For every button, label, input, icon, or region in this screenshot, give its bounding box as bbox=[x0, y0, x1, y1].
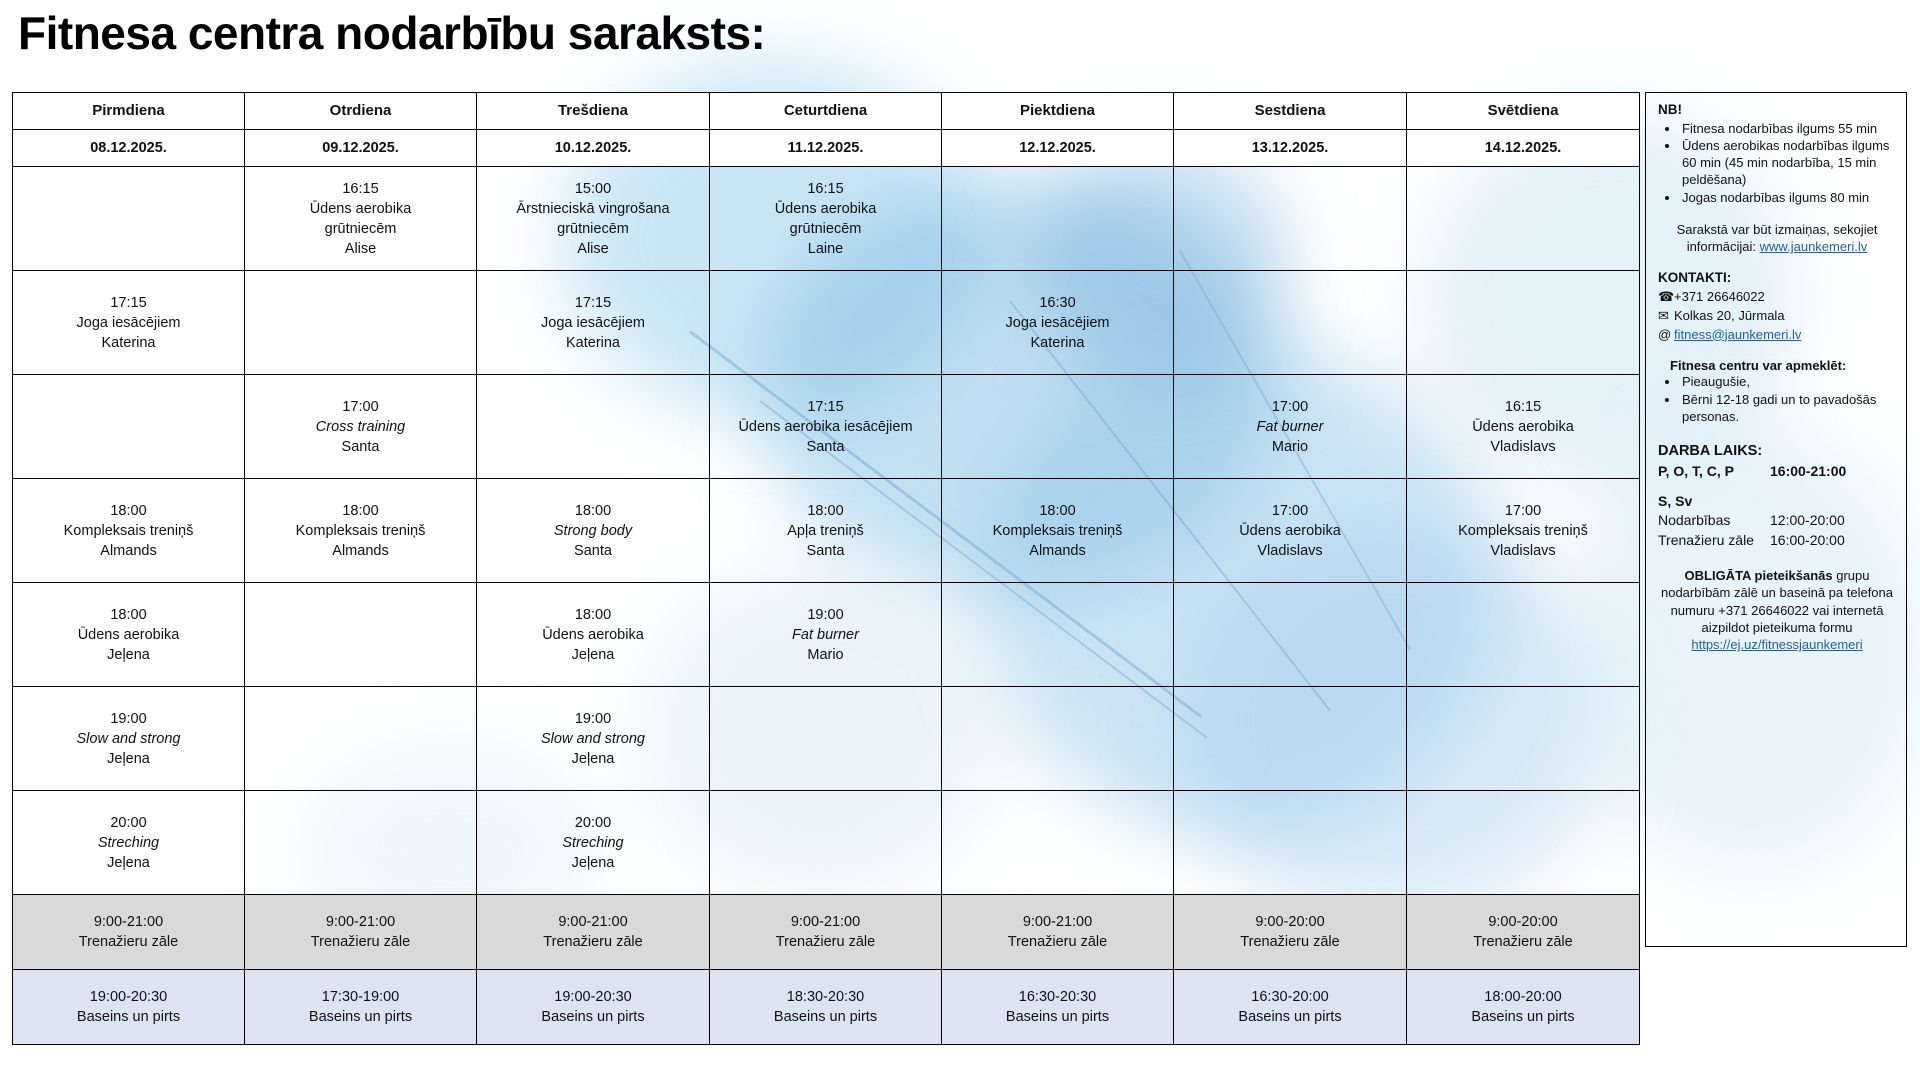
schedule-cell: 17:00Cross trainingSanta bbox=[245, 375, 477, 479]
cell-line: 18:00 bbox=[481, 501, 705, 521]
schedule-cell bbox=[942, 167, 1174, 271]
schedule-cell: 17:15Joga iesācējiemKaterina bbox=[13, 271, 245, 375]
cell-line: Baseins un pirts bbox=[249, 1007, 472, 1027]
cell-line: 16:30 bbox=[946, 293, 1169, 313]
cell-line: 17:00 bbox=[1411, 501, 1635, 521]
cell-line: Almands bbox=[946, 541, 1169, 561]
cell-line: Vladislavs bbox=[1411, 541, 1635, 561]
cell-line: 17:00 bbox=[1178, 501, 1402, 521]
cell-line: Trenažieru zāle bbox=[1178, 932, 1402, 952]
table-row: 16:15Ūdens aerobikagrūtniecēmAlise15:00Ā… bbox=[13, 167, 1640, 271]
cell-line: Katerina bbox=[481, 333, 705, 353]
weekend-classes-value: 12:00-20:00 bbox=[1770, 511, 1845, 529]
cell-line: Trenažieru zāle bbox=[249, 932, 472, 952]
cell-line: 19:00 bbox=[17, 709, 240, 729]
cell-line: Almands bbox=[17, 541, 240, 561]
envelope-icon: ✉ bbox=[1658, 308, 1674, 325]
cell-line: Katerina bbox=[946, 333, 1169, 353]
schedule-cell: 16:30-20:00Baseins un pirts bbox=[1174, 970, 1407, 1045]
cell-line: 9:00-21:00 bbox=[714, 912, 937, 932]
contact-address-row: ✉Kolkas 20, Jūrmala bbox=[1658, 308, 1896, 325]
cell-line: 20:00 bbox=[481, 813, 705, 833]
cell-line: Ūdens aerobika iesācējiem bbox=[714, 417, 937, 437]
cell-line: 17:15 bbox=[481, 293, 705, 313]
schedule-cell bbox=[1174, 167, 1407, 271]
cell-line: 17:30-19:00 bbox=[249, 987, 472, 1007]
schedule-cell: 18:00Strong bodySanta bbox=[477, 479, 710, 583]
schedule-cell: 20:00StrechingJeļena bbox=[477, 791, 710, 895]
at-icon: @ bbox=[1658, 327, 1674, 344]
schedule-cell bbox=[942, 687, 1174, 791]
schedule-cell bbox=[710, 791, 942, 895]
schedule-cell: 19:00Fat burnerMario bbox=[710, 583, 942, 687]
weekend-classes-label: Nodarbības bbox=[1658, 511, 1770, 529]
schedule-changes-note: Sarakstā var būt izmaiņas, sekojiet info… bbox=[1658, 221, 1896, 255]
visitors-title: Fitnesa centru var apmeklēt: bbox=[1670, 358, 1896, 375]
cell-line: Kompleksais treniņš bbox=[1411, 521, 1635, 541]
cell-line: Trenažieru zāle bbox=[17, 932, 240, 952]
cell-line: Ūdens aerobika bbox=[714, 199, 937, 219]
jaunkemeri-website-link[interactable]: www.jaunkemeri.lv bbox=[1760, 239, 1868, 254]
cell-line: Kompleksais treniņš bbox=[17, 521, 240, 541]
cell-line: Slow and strong bbox=[17, 729, 240, 749]
cell-line: Ūdens aerobika bbox=[1411, 417, 1635, 437]
schedule-cell: 18:30-20:30Baseins un pirts bbox=[710, 970, 942, 1045]
day-header-0: Pirmdiena bbox=[13, 93, 245, 130]
schedule-cell: 16:30Joga iesācējiemKaterina bbox=[942, 271, 1174, 375]
schedule-cell bbox=[1407, 687, 1640, 791]
schedule-cell: 18:00Apļa treniņšSanta bbox=[710, 479, 942, 583]
cell-line: Ūdens aerobika bbox=[249, 199, 472, 219]
cell-line: 16:15 bbox=[1411, 397, 1635, 417]
cell-line: 9:00-21:00 bbox=[946, 912, 1169, 932]
schedule-cell: 17:00Kompleksais treniņšVladislavs bbox=[1407, 479, 1640, 583]
cell-line: 18:00 bbox=[946, 501, 1169, 521]
table-row: 19:00Slow and strongJeļena19:00Slow and … bbox=[13, 687, 1640, 791]
weekend-gym-row: Trenažieru zāle 16:00-20:00 bbox=[1658, 531, 1896, 549]
schedule-cell: 15:00Ārstnieciskā vingrošanagrūtniecēmAl… bbox=[477, 167, 710, 271]
schedule-cell bbox=[942, 791, 1174, 895]
day-date-4: 12.12.2025. bbox=[942, 130, 1174, 167]
day-date-1: 09.12.2025. bbox=[245, 130, 477, 167]
cell-line: 17:00 bbox=[1178, 397, 1402, 417]
schedule-cell: 17:15Joga iesācējiemKaterina bbox=[477, 271, 710, 375]
schedule-cell: 19:00-20:30Baseins un pirts bbox=[13, 970, 245, 1045]
day-date-6: 14.12.2025. bbox=[1407, 130, 1640, 167]
day-header-1: Otrdiena bbox=[245, 93, 477, 130]
schedule-cell bbox=[1174, 791, 1407, 895]
day-date-3: 11.12.2025. bbox=[710, 130, 942, 167]
schedule-cell bbox=[710, 687, 942, 791]
cell-line: Vladislavs bbox=[1411, 437, 1635, 457]
cell-line: 16:15 bbox=[249, 179, 472, 199]
cell-line: Trenažieru zāle bbox=[714, 932, 937, 952]
cell-line: Joga iesācējiem bbox=[481, 313, 705, 333]
schedule-cell bbox=[942, 583, 1174, 687]
cell-line: Baseins un pirts bbox=[714, 1007, 937, 1027]
cell-line: Kompleksais treniņš bbox=[249, 521, 472, 541]
weekend-days-label: S, Sv bbox=[1658, 492, 1896, 510]
cell-line: 18:00 bbox=[714, 501, 937, 521]
cell-line: 9:00-21:00 bbox=[249, 912, 472, 932]
cell-line: Alise bbox=[249, 239, 472, 259]
schedule-cell bbox=[1174, 687, 1407, 791]
cell-line: Vladislavs bbox=[1178, 541, 1402, 561]
schedule-cell bbox=[710, 271, 942, 375]
contacts-title: KONTAKTI: bbox=[1658, 269, 1896, 287]
cell-line: 9:00-21:00 bbox=[17, 912, 240, 932]
cell-line: Santa bbox=[249, 437, 472, 457]
schedule-cell: 17:00Fat burnerMario bbox=[1174, 375, 1407, 479]
schedule-cell bbox=[13, 375, 245, 479]
cell-line: 15:00 bbox=[481, 179, 705, 199]
schedule-cell bbox=[245, 271, 477, 375]
schedule-cell bbox=[477, 375, 710, 479]
cell-line: 18:30-20:30 bbox=[714, 987, 937, 1007]
cell-line: Ūdens aerobika bbox=[17, 625, 240, 645]
contact-phone: +371 26646022 bbox=[1674, 289, 1765, 304]
cell-line: 16:30-20:00 bbox=[1178, 987, 1402, 1007]
schedule-table: Pirmdiena Otrdiena Trešdiena Ceturtdiena… bbox=[12, 92, 1640, 1045]
visitors-list: Pieaugušie,Bērni 12-18 gadi un to pavado… bbox=[1658, 374, 1896, 426]
schedule-cell: 19:00Slow and strongJeļena bbox=[13, 687, 245, 791]
schedule-cell: 9:00-21:00Trenažieru zāle bbox=[13, 895, 245, 970]
contact-email-row: @fitness@jaunkemeri.lv bbox=[1658, 327, 1896, 344]
cell-line: Santa bbox=[714, 437, 937, 457]
schedule-cell bbox=[1174, 583, 1407, 687]
cell-line: 17:15 bbox=[17, 293, 240, 313]
cell-line: Jeļena bbox=[481, 749, 705, 769]
cell-line: Cross training bbox=[249, 417, 472, 437]
schedule-cell bbox=[245, 583, 477, 687]
cell-line: 9:00-21:00 bbox=[481, 912, 705, 932]
schedule-cell: 16:30-20:30Baseins un pirts bbox=[942, 970, 1174, 1045]
schedule-cell: 18:00-20:00Baseins un pirts bbox=[1407, 970, 1640, 1045]
contact-phone-row: ☎+371 26646022 bbox=[1658, 289, 1896, 306]
contact-address: Kolkas 20, Jūrmala bbox=[1674, 308, 1785, 323]
schedule-cell: 9:00-21:00Trenažieru zāle bbox=[245, 895, 477, 970]
schedule-cell bbox=[942, 375, 1174, 479]
schedule-cell: 9:00-21:00Trenažieru zāle bbox=[710, 895, 942, 970]
schedule-cell: 16:15Ūdens aerobikagrūtniecēmLaine bbox=[710, 167, 942, 271]
cell-line: Baseins un pirts bbox=[1178, 1007, 1402, 1027]
cell-line: Almands bbox=[249, 541, 472, 561]
day-date-5: 13.12.2025. bbox=[1174, 130, 1407, 167]
cell-line: Trenažieru zāle bbox=[946, 932, 1169, 952]
weekend-classes-row: Nodarbības 12:00-20:00 bbox=[1658, 511, 1896, 529]
cell-line: Kompleksais treniņš bbox=[946, 521, 1169, 541]
contact-email-link[interactable]: fitness@jaunkemeri.lv bbox=[1674, 327, 1801, 342]
cell-line: 18:00 bbox=[481, 605, 705, 625]
weekday-hours-value: 16:00-21:00 bbox=[1770, 462, 1846, 480]
day-date-2: 10.12.2025. bbox=[477, 130, 710, 167]
registration-form-link[interactable]: https://ej.uz/fitnessjaunkemeri bbox=[1691, 637, 1862, 652]
schedule-body: 16:15Ūdens aerobikagrūtniecēmAlise15:00Ā… bbox=[13, 167, 1640, 1045]
schedule-table-wrapper: Pirmdiena Otrdiena Trešdiena Ceturtdiena… bbox=[12, 92, 1639, 1045]
schedule-cell: 17:15Ūdens aerobika iesācējiemSanta bbox=[710, 375, 942, 479]
cell-line: Ūdens aerobika bbox=[1178, 521, 1402, 541]
phone-icon: ☎ bbox=[1658, 289, 1674, 306]
cell-line: 16:15 bbox=[714, 179, 937, 199]
schedule-cell: 9:00-20:00Trenažieru zāle bbox=[1174, 895, 1407, 970]
weekday-days-label: P, O, T, C, P bbox=[1658, 462, 1770, 480]
schedule-cell bbox=[1174, 271, 1407, 375]
cell-line: Fat burner bbox=[714, 625, 937, 645]
cell-line: Baseins un pirts bbox=[481, 1007, 705, 1027]
registration-note: OBLIGĀTA pieteikšanās grupu nodarbībām z… bbox=[1658, 567, 1896, 654]
working-hours-weekday: P, O, T, C, P 16:00-21:00 bbox=[1658, 462, 1896, 480]
day-header-4: Piektdiena bbox=[942, 93, 1174, 130]
cell-line: Santa bbox=[481, 541, 705, 561]
schedule-cell: 9:00-20:00Trenažieru zāle bbox=[1407, 895, 1640, 970]
cell-line: Jeļena bbox=[481, 853, 705, 873]
schedule-cell: 17:30-19:00Baseins un pirts bbox=[245, 970, 477, 1045]
cell-line: Ārstnieciskā vingrošana bbox=[481, 199, 705, 219]
cell-line: Joga iesācējiem bbox=[946, 313, 1169, 333]
table-row: 17:15Joga iesācējiemKaterina17:15Joga ie… bbox=[13, 271, 1640, 375]
cell-line: 17:15 bbox=[714, 397, 937, 417]
list-item: Fitnesa nodarbības ilgums 55 min bbox=[1680, 121, 1896, 138]
schedule-cell: 20:00StrechingJeļena bbox=[13, 791, 245, 895]
cell-line: Jeļena bbox=[481, 645, 705, 665]
list-item: Bērni 12-18 gadi un to pavadošās persona… bbox=[1680, 392, 1896, 426]
list-item: Jogas nodarbības ilgums 80 min bbox=[1680, 190, 1896, 207]
cell-line: Fat burner bbox=[1178, 417, 1402, 437]
day-header-2: Trešdiena bbox=[477, 93, 710, 130]
day-date-0: 08.12.2025. bbox=[13, 130, 245, 167]
cell-line: Baseins un pirts bbox=[1411, 1007, 1635, 1027]
nb-title: NB! bbox=[1658, 101, 1896, 119]
schedule-cell bbox=[245, 687, 477, 791]
table-row: 17:00Cross trainingSanta17:15Ūdens aerob… bbox=[13, 375, 1640, 479]
cell-line: 16:30-20:30 bbox=[946, 987, 1169, 1007]
schedule-cell bbox=[1407, 791, 1640, 895]
schedule-cell: 16:15Ūdens aerobikaVladislavs bbox=[1407, 375, 1640, 479]
cell-line: 18:00 bbox=[249, 501, 472, 521]
page-title: Fitnesa centra nodarbību saraksts: bbox=[18, 6, 765, 60]
list-item: Pieaugušie, bbox=[1680, 374, 1896, 391]
cell-line: Alise bbox=[481, 239, 705, 259]
table-row: 9:00-21:00Trenažieru zāle9:00-21:00Trena… bbox=[13, 895, 1640, 970]
cell-line: Slow and strong bbox=[481, 729, 705, 749]
schedule-cell bbox=[1407, 167, 1640, 271]
cell-line: 18:00 bbox=[17, 501, 240, 521]
working-hours-title: DARBA LAIKS: bbox=[1658, 442, 1896, 461]
cell-line: 19:00 bbox=[481, 709, 705, 729]
cell-line: Strong body bbox=[481, 521, 705, 541]
table-row: 18:00Ūdens aerobikaJeļena18:00Ūdens aero… bbox=[13, 583, 1640, 687]
table-header-daynames: Pirmdiena Otrdiena Trešdiena Ceturtdiena… bbox=[13, 93, 1640, 130]
cell-line: Streching bbox=[481, 833, 705, 853]
cell-line: Trenažieru zāle bbox=[481, 932, 705, 952]
cell-line: 9:00-20:00 bbox=[1411, 912, 1635, 932]
nb-list: Fitnesa nodarbības ilgums 55 minŪdens ae… bbox=[1658, 121, 1896, 207]
cell-line: Jeļena bbox=[17, 645, 240, 665]
cell-line: grūtniecēm bbox=[714, 219, 937, 239]
schedule-cell bbox=[1407, 583, 1640, 687]
cell-line: Santa bbox=[714, 541, 937, 561]
schedule-cell: 9:00-21:00Trenažieru zāle bbox=[942, 895, 1174, 970]
day-header-3: Ceturtdiena bbox=[710, 93, 942, 130]
schedule-cell: 19:00Slow and strongJeļena bbox=[477, 687, 710, 791]
schedule-cell: 19:00-20:30Baseins un pirts bbox=[477, 970, 710, 1045]
schedule-cell bbox=[245, 791, 477, 895]
cell-line: 19:00-20:30 bbox=[17, 987, 240, 1007]
schedule-cell: 18:00Kompleksais treniņšAlmands bbox=[245, 479, 477, 583]
table-row: 20:00StrechingJeļena20:00StrechingJeļena bbox=[13, 791, 1640, 895]
cell-line: 19:00 bbox=[714, 605, 937, 625]
list-item: Ūdens aerobikas nodarbības ilgums 60 min… bbox=[1680, 138, 1896, 189]
cell-line: Baseins un pirts bbox=[17, 1007, 240, 1027]
cell-line: Apļa treniņš bbox=[714, 521, 937, 541]
cell-line: 20:00 bbox=[17, 813, 240, 833]
info-panel: NB! Fitnesa nodarbības ilgums 55 minŪden… bbox=[1645, 92, 1907, 947]
schedule-cell: 18:00Kompleksais treniņšAlmands bbox=[942, 479, 1174, 583]
cell-line: 18:00-20:00 bbox=[1411, 987, 1635, 1007]
schedule-cell: 18:00Ūdens aerobikaJeļena bbox=[13, 583, 245, 687]
cell-line: Baseins un pirts bbox=[946, 1007, 1169, 1027]
schedule-cell bbox=[1407, 271, 1640, 375]
day-header-5: Sestdiena bbox=[1174, 93, 1407, 130]
schedule-cell: 18:00Ūdens aerobikaJeļena bbox=[477, 583, 710, 687]
cell-line: Laine bbox=[714, 239, 937, 259]
table-row: 19:00-20:30Baseins un pirts17:30-19:00Ba… bbox=[13, 970, 1640, 1045]
schedule-cell bbox=[13, 167, 245, 271]
schedule-cell: 18:00Kompleksais treniņšAlmands bbox=[13, 479, 245, 583]
cell-line: Katerina bbox=[17, 333, 240, 353]
cell-line: Ūdens aerobika bbox=[481, 625, 705, 645]
cell-line: grūtniecēm bbox=[481, 219, 705, 239]
table-header-dates: 08.12.2025. 09.12.2025. 10.12.2025. 11.1… bbox=[13, 130, 1640, 167]
cell-line: Trenažieru zāle bbox=[1411, 932, 1635, 952]
cell-line: Joga iesācējiem bbox=[17, 313, 240, 333]
schedule-cell: 9:00-21:00Trenažieru zāle bbox=[477, 895, 710, 970]
registration-bold-text: OBLIGĀTA pieteikšanās bbox=[1685, 568, 1833, 583]
schedule-cell: 17:00Ūdens aerobikaVladislavs bbox=[1174, 479, 1407, 583]
day-header-6: Svētdiena bbox=[1407, 93, 1640, 130]
cell-line: 19:00-20:30 bbox=[481, 987, 705, 1007]
schedule-cell: 16:15Ūdens aerobikagrūtniecēmAlise bbox=[245, 167, 477, 271]
table-row: 18:00Kompleksais treniņšAlmands18:00Komp… bbox=[13, 479, 1640, 583]
cell-line: Jeļena bbox=[17, 749, 240, 769]
cell-line: grūtniecēm bbox=[249, 219, 472, 239]
cell-line: Streching bbox=[17, 833, 240, 853]
cell-line: 17:00 bbox=[249, 397, 472, 417]
weekend-gym-value: 16:00-20:00 bbox=[1770, 531, 1845, 549]
cell-line: Mario bbox=[714, 645, 937, 665]
cell-line: 18:00 bbox=[17, 605, 240, 625]
cell-line: Jeļena bbox=[17, 853, 240, 873]
weekend-gym-label: Trenažieru zāle bbox=[1658, 531, 1770, 549]
cell-line: 9:00-20:00 bbox=[1178, 912, 1402, 932]
cell-line: Mario bbox=[1178, 437, 1402, 457]
